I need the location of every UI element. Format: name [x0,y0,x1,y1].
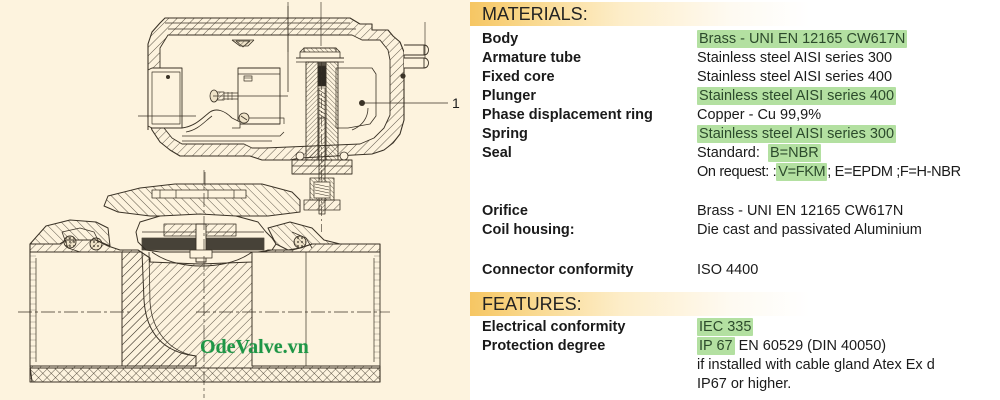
spec-label-connector-conformity: Connector conformity [482,261,633,280]
spec-label-plunger: Plunger [482,87,536,106]
spec-row-orifice: Orifice Brass - UNI EN 12165 CW617N [470,202,1000,221]
highlighted-value-spring: Stainless steel AISI series 300 [697,125,896,143]
spec-row-phase-displacement-ring: Phase displacement ring Copper - Cu 99,9… [470,106,1000,125]
spec-row-body: Body Brass - UNI EN 12165 CW617N [470,30,1000,49]
spec-value-fixed-core: Stainless steel AISI series 400 [697,68,892,87]
spec-value-protection-degree: IP 67 EN 60529 (DIN 40050) [697,337,886,356]
valve-cross-section-drawing: OdeValve.vn 1 [0,0,470,400]
seal-standard-prefix: Standard: [697,145,760,161]
spec-label-fixed-core: Fixed core [482,68,555,87]
spec-row-spring: Spring Stainless steel AISI series 300 [470,125,1000,144]
section-header-features: FEATURES: [470,292,1000,316]
spec-sheet-page: OdeValve.vn 1 MATERIALS: Body Brass - UN… [0,0,1000,400]
spec-value-spring: Stainless steel AISI series 300 [697,125,896,144]
spec-row-electrical-conformity: Electrical conformity IEC 335 [470,318,1000,337]
spec-value-coil-housing: Die cast and passivated Aluminium [697,221,922,240]
specifications-panel: MATERIALS: Body Brass - UNI EN 12165 CW6… [470,0,1000,400]
spec-label-body: Body [482,30,518,49]
spec-value-connector-conformity: ISO 4400 [697,261,758,280]
spec-row-fixed-core: Fixed core Stainless steel AISI series 4… [470,68,1000,87]
highlighted-value-plunger: Stainless steel AISI series 400 [697,87,896,105]
spec-row-plunger: Plunger Stainless steel AISI series 400 [470,87,1000,106]
spec-value-orifice: Brass - UNI EN 12165 CW617N [697,202,903,221]
spec-row-seal: Seal Standard: B=NBR [470,144,1000,163]
spec-value-body: Brass - UNI EN 12165 CW617N [697,30,907,49]
spec-label-armature-tube: Armature tube [482,49,581,68]
spec-row-connector-conformity: Connector conformity ISO 4400 [470,261,1000,280]
spec-row-coil-housing: Coil housing: Die cast and passivated Al… [470,221,1000,240]
spec-value-seal-standard: Standard: B=NBR [697,144,821,163]
highlighted-value-seal-fkm: V=FKM [776,163,827,181]
spec-label-electrical-conformity: Electrical conformity [482,318,625,337]
spec-label-protection-degree: Protection degree [482,337,605,356]
spec-row-seal-on-request: On request: :V=FKM; E=EPDM ;F=H-NBR [470,163,1000,182]
seal-onrequest-rest: ; E=EPDM ;F=H-NBR [827,164,960,180]
spec-value-armature-tube: Stainless steel AISI series 300 [697,49,892,68]
spec-row-armature-tube: Armature tube Stainless steel AISI serie… [470,49,1000,68]
protection-note-line2: IP67 or higher. [697,375,791,394]
section-header-materials: MATERIALS: [470,2,1000,26]
spec-label-seal: Seal [482,144,512,163]
spec-row-protection-note-2: IP67 or higher. [470,375,1000,394]
spec-value-electrical-conformity: IEC 335 [697,318,753,337]
highlighted-value-seal-standard: B=NBR [768,144,821,162]
spec-row-protection-degree: Protection degree IP 67 EN 60529 (DIN 40… [470,337,1000,356]
spec-label-phase-displacement-ring: Phase displacement ring [482,106,653,125]
spec-value-phase-displacement-ring: Copper - Cu 99,9% [697,106,821,125]
spec-value-seal-on-request: On request: :V=FKM; E=EPDM ;F=H-NBR [697,163,961,182]
callout-label-1: 1 [452,95,460,111]
spec-label-coil-housing: Coil housing: [482,221,575,240]
spec-value-plunger: Stainless steel AISI series 400 [697,87,896,106]
highlighted-value-body: Brass - UNI EN 12165 CW617N [697,30,907,48]
watermark-odevalve: OdeValve.vn [200,336,309,359]
highlighted-value-ip67: IP 67 [697,337,735,355]
spec-label-spring: Spring [482,125,528,144]
protection-standard-text: EN 60529 (DIN 40050) [735,338,887,354]
spec-label-orifice: Orifice [482,202,528,221]
spec-row-protection-note-1: if installed with cable gland Atex Ex d [470,356,1000,375]
protection-note-line1: if installed with cable gland Atex Ex d [697,356,935,375]
highlighted-value-iec-335: IEC 335 [697,318,753,336]
seal-onrequest-prefix: On request: : [697,164,776,180]
